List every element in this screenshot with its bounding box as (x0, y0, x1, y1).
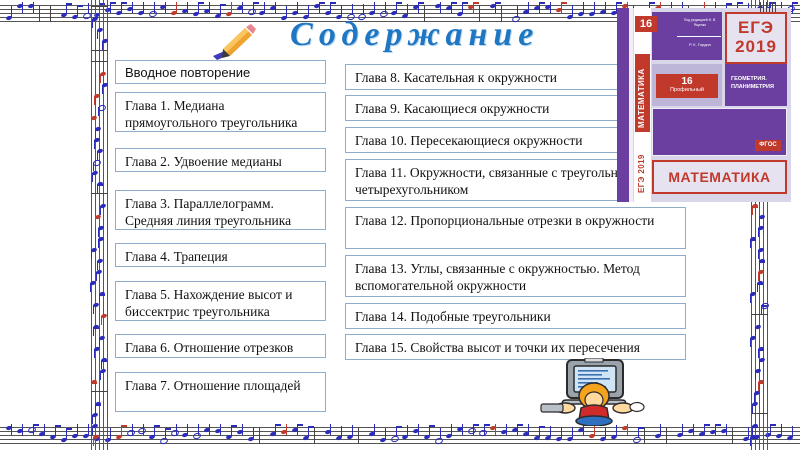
toc-item-chapter-1[interactable]: Глава 1. Медиана прямоугольного треуголь… (115, 92, 326, 132)
cover-large-purple-panel: ФГОС (652, 108, 787, 156)
fgos-badge: ФГОС (755, 140, 781, 151)
page-title: Содержание (290, 16, 600, 54)
textbook-cover-image: МАТЕМАТИКА ЕГЭ 2019 16 Под редакцией И. … (617, 8, 791, 202)
cover-author: Р. К. Гордин (681, 42, 719, 47)
ege-logo: ЕГЭ 2019 (725, 12, 787, 64)
toc-item-chapter-15[interactable]: Глава 15. Свойства высот и точки их пере… (345, 334, 686, 360)
toc-item-chapter-7[interactable]: Глава 7. Отношение площадей (115, 372, 326, 412)
toc-item-chapter-3[interactable]: Глава 3. Параллелограмм. Средняя линия т… (115, 190, 326, 230)
toc-item-chapter-4[interactable]: Глава 4. Трапеция (115, 243, 326, 267)
cover-subject-panel: ГЕОМЕТРИЯ. ПЛАНИМЕТРИЯ (725, 64, 787, 106)
cover-hatch-marks (760, 2, 778, 12)
toc-item-chapter-2[interactable]: Глава 2. Удвоение медианы (115, 148, 326, 172)
pencil-icon (205, 16, 265, 62)
ege-logo-year: 2019 (727, 37, 785, 56)
cover-spine (617, 8, 629, 202)
toc-item-chapter-13[interactable]: Глава 13. Углы, связанные с окружностью.… (345, 255, 686, 297)
cover-editor-line: Под редакцией И. В. Ященко (681, 18, 719, 28)
toc-item-intro[interactable]: Вводное повторение (115, 60, 326, 84)
toc-item-chapter-5[interactable]: Глава 5. Нахождение высот и биссектрис т… (115, 281, 326, 321)
profile-number: 16 (656, 76, 718, 87)
slide-canvas: Содержание Вводное повторение Глава 1. М… (0, 0, 800, 450)
toc-item-chapter-12[interactable]: Глава 12. Пропорциональные отрезки в окр… (345, 207, 686, 249)
spine-exam-label: ЕГЭ 2019 (637, 154, 646, 193)
subject-line-1: ГЕОМЕТРИЯ. (731, 75, 787, 83)
subject-line-2: ПЛАНИМЕТРИЯ (731, 83, 787, 91)
cover-title-text: МАТЕМАТИКА (654, 162, 785, 192)
cover-spine-gap (629, 8, 633, 202)
toc-item-chapter-14[interactable]: Глава 14. Подобные треугольники (345, 303, 686, 329)
cover-title-box: МАТЕМАТИКА (652, 160, 787, 194)
child-at-computer-icon (533, 358, 655, 426)
cover-divider (677, 36, 721, 37)
cover-number-badge: 16 (635, 16, 657, 32)
cover-profile-badge: 16 Профильный (656, 74, 718, 98)
music-border-bottom (0, 424, 800, 446)
music-border-left (88, 0, 110, 450)
ege-logo-text: ЕГЭ (727, 18, 785, 37)
profile-label: Профильный (656, 87, 718, 94)
toc-item-chapter-6[interactable]: Глава 6. Отношение отрезков (115, 334, 326, 358)
spine-subject-label: МАТЕМАТИКА (637, 68, 646, 128)
